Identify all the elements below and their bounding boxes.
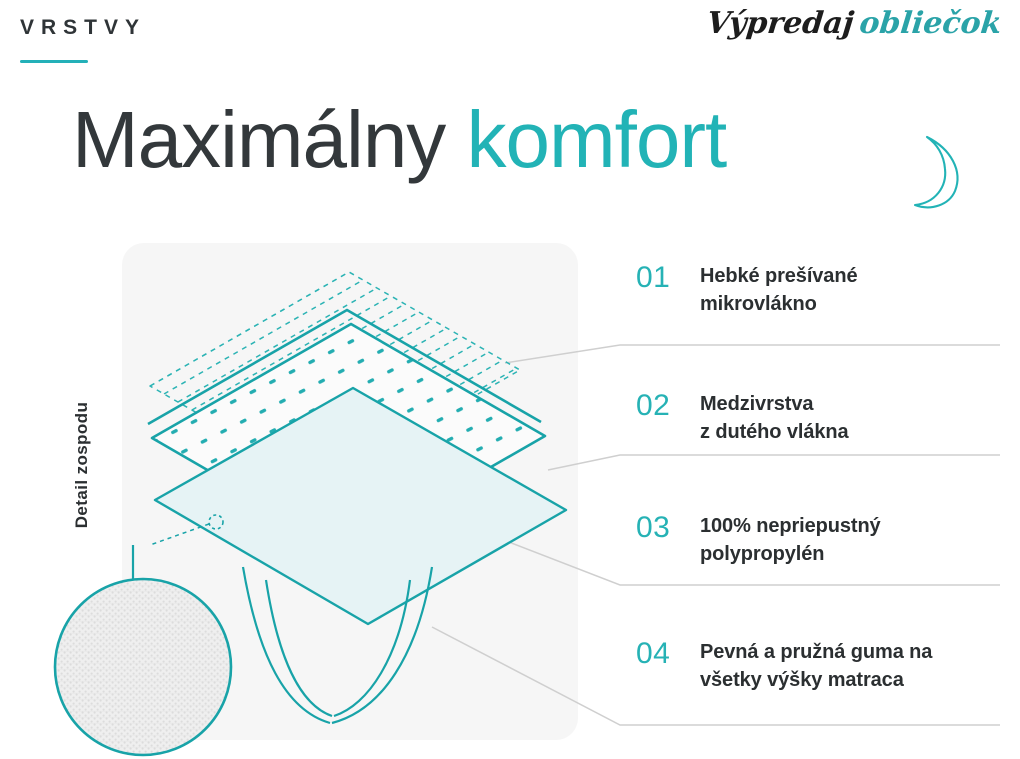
- legend-item-01[interactable]: 01 Hebké prešívané mikrovlákno: [636, 262, 857, 319]
- legend-text-03: 100% nepriepustný polypropylén: [700, 512, 881, 569]
- legend-number-03: 03: [636, 512, 684, 544]
- legend-text-04-line2: všetky výšky matraca: [700, 666, 932, 694]
- connector-01: [505, 345, 1000, 363]
- detail-leader-line: [150, 524, 209, 545]
- legend-text-02: Medzivrstva z dutého vlákna: [700, 390, 849, 447]
- fabric-weave-magnifier: [55, 545, 231, 755]
- legend-text-03-line1: 100% nepriepustný: [700, 512, 881, 540]
- legend-text-02-line2: z dutého vlákna: [700, 418, 849, 446]
- legend-text-04: Pevná a pružná guma na všetky výšky matr…: [700, 638, 932, 695]
- legend-text-04-line1: Pevná a pružná guma na: [700, 638, 932, 666]
- legend-text-01: Hebké prešívané mikrovlákno: [700, 262, 857, 319]
- legend-number-02: 02: [636, 390, 684, 422]
- legend-number-04: 04: [636, 638, 684, 670]
- legend-number-01: 01: [636, 262, 684, 294]
- legend-text-01-line2: mikrovlákno: [700, 290, 857, 318]
- legend-text-02-line1: Medzivrstva: [700, 390, 849, 418]
- connector-02: [548, 455, 1000, 470]
- infographic-page: VRSTVY Výpredajobliečok Maximálny komfor…: [0, 0, 1020, 759]
- legend-item-03[interactable]: 03 100% nepriepustný polypropylén: [636, 512, 881, 569]
- legend-text-03-line2: polypropylén: [700, 540, 881, 568]
- legend-item-04[interactable]: 04 Pevná a pružná guma na všetky výšky m…: [636, 638, 932, 695]
- legend-item-02[interactable]: 02 Medzivrstva z dutého vlákna: [636, 390, 849, 447]
- legend-text-01-line1: Hebké prešívané: [700, 262, 857, 290]
